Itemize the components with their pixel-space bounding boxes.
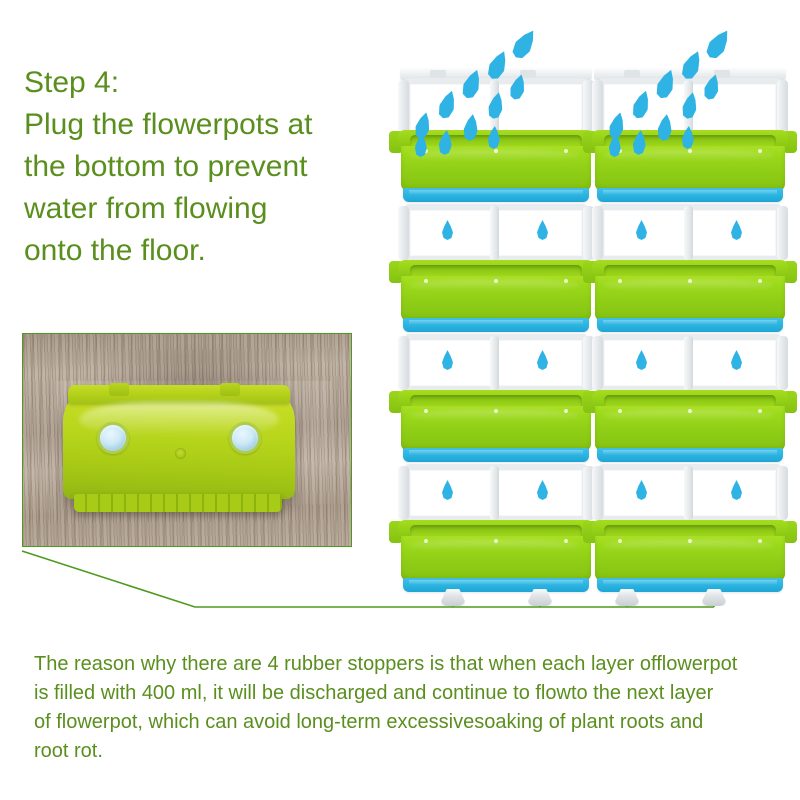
pot-stripe-gloss-r3 <box>603 450 778 455</box>
frame-post-left-r2 <box>592 336 603 390</box>
frame-divider-r1 <box>684 206 693 260</box>
pot-stripe-r2 <box>597 318 783 332</box>
pot-hole-r4-a <box>618 539 622 543</box>
pot-hole-l3-c <box>564 409 568 413</box>
pot-hole-r1-b <box>688 149 692 153</box>
frame-divider-r3 <box>684 466 693 520</box>
step-line-2: the bottom to prevent <box>24 146 374 188</box>
vertical-planter-tower <box>398 68 788 588</box>
frame-post-right-r2 <box>777 336 788 390</box>
tower-stopper-cap-4 <box>706 589 722 595</box>
pot-stripe-gloss-r1 <box>603 190 778 195</box>
photo-flowerpot-screw-boss <box>175 448 186 459</box>
pot-hole-l2-c <box>564 279 568 283</box>
pot-stripe-gloss-l2 <box>409 320 584 325</box>
splash-drop-r-1 <box>703 26 735 62</box>
frame-post-left-3 <box>398 466 409 520</box>
pot-stripe-gloss-r4 <box>603 580 778 585</box>
pot-hole-r1-c <box>758 149 762 153</box>
tower-stopper-cap-1 <box>445 589 461 595</box>
frame-post-right-r1 <box>777 206 788 260</box>
pot-hole-r2-c <box>758 279 762 283</box>
frame-post-left-1 <box>398 206 409 260</box>
pot-stripe-gloss-l3 <box>409 450 584 455</box>
pot-stripe-l2 <box>403 318 589 332</box>
pot-hole-r4-c <box>758 539 762 543</box>
photo-flowerpot-clip-right <box>220 383 240 396</box>
pot-stripe-gloss-l4 <box>409 580 584 585</box>
photo-flowerpot-clip-left <box>109 383 129 396</box>
planter-pot-r4 <box>592 520 788 594</box>
step-line-3: water from flowing <box>24 188 374 230</box>
pot-stripe-l4 <box>403 578 589 592</box>
pot-hole-l2-b <box>494 279 498 283</box>
planter-pot-r2 <box>592 260 788 334</box>
pot-hole-l4-a <box>424 539 428 543</box>
paragraph-line-4: root rot. <box>34 737 774 766</box>
pot-hole-r3-a <box>618 409 622 413</box>
pot-hole-l1-b <box>494 149 498 153</box>
step-line-1: Plug the flowerpots at <box>24 104 374 146</box>
pot-hole-l4-c <box>564 539 568 543</box>
frame-divider-2 <box>490 336 499 390</box>
step-instruction-block: Step 4: Plug the flowerpots at the botto… <box>24 62 374 272</box>
pot-hole-l2-a <box>424 279 428 283</box>
photo-flowerpot-ribbed-base <box>74 494 282 512</box>
rubber-stopper-icon-right <box>229 422 261 454</box>
step-line-4: onto the floor. <box>24 230 374 272</box>
planter-pot-l2 <box>398 260 594 334</box>
paragraph-line-3: of flowerpot, which can avoid long-term … <box>34 708 774 737</box>
pot-hole-r3-c <box>758 409 762 413</box>
pot-hole-r2-b <box>688 279 692 283</box>
pot-hole-r3-b <box>688 409 692 413</box>
frame-divider-3 <box>490 466 499 520</box>
pot-hole-l1-c <box>564 149 568 153</box>
pot-hole-l3-a <box>424 409 428 413</box>
pot-hole-r2-a <box>618 279 622 283</box>
pot-hole-l3-b <box>494 409 498 413</box>
step-heading: Step 4: <box>24 62 374 104</box>
paragraph-line-1: The reason why there are 4 rubber stoppe… <box>34 650 774 679</box>
tower-stopper-cap-3 <box>619 589 635 595</box>
frame-post-right-r3 <box>777 466 788 520</box>
splash-drop-l-1 <box>509 26 541 62</box>
pot-stripe-r3 <box>597 448 783 462</box>
planter-pot-r3 <box>592 390 788 464</box>
pot-hole-l4-b <box>494 539 498 543</box>
pot-stripe-gloss-l1 <box>409 190 584 195</box>
frame-post-left-2 <box>398 336 409 390</box>
frame-post-left-r1 <box>592 206 603 260</box>
photo-flowerpot-body <box>63 396 295 499</box>
frame-divider-r2 <box>684 336 693 390</box>
explanation-paragraph: The reason why there are 4 rubber stoppe… <box>34 650 774 766</box>
planter-pot-l3 <box>398 390 594 464</box>
pot-hole-r4-b <box>688 539 692 543</box>
tower-stopper-cap-2 <box>532 589 548 595</box>
planter-pot-l4 <box>398 520 594 594</box>
rubber-stopper-icon-left <box>97 422 129 454</box>
paragraph-line-2: is filled with 400 ml, it will be discha… <box>34 679 774 708</box>
frame-post-left-r3 <box>592 466 603 520</box>
photo-flowerpot-lip <box>68 385 290 403</box>
pot-stripe-l3 <box>403 448 589 462</box>
flowerpot-bottom-photo <box>22 333 352 547</box>
frame-divider-1 <box>490 206 499 260</box>
pot-stripe-r1 <box>597 188 783 202</box>
pot-stripe-l1 <box>403 188 589 202</box>
pot-stripe-gloss-r2 <box>603 320 778 325</box>
